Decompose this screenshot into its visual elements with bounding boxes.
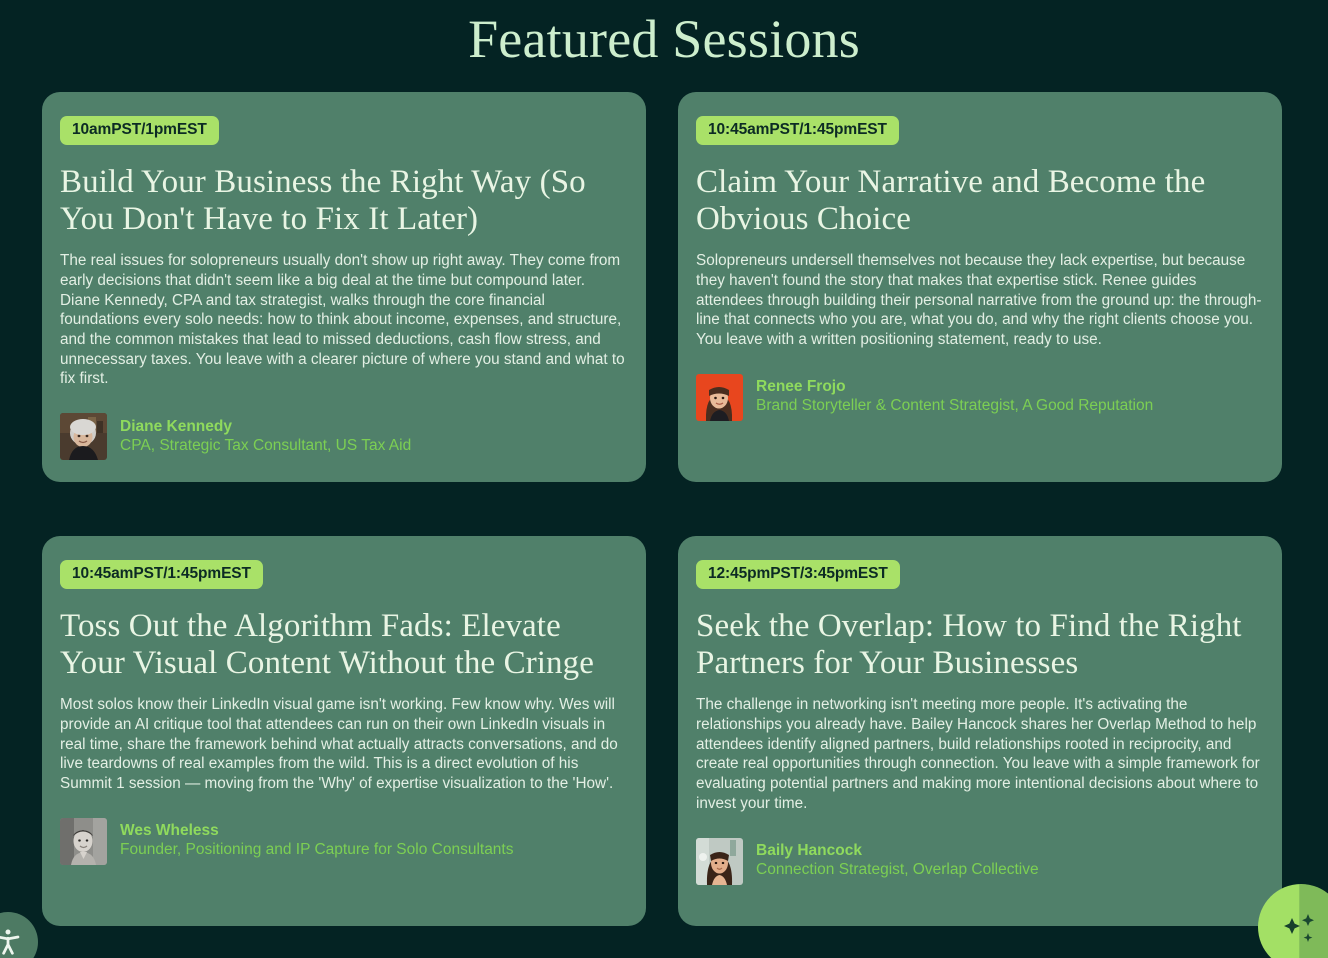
featured-sessions-grid: 10amPST/1pmEST Build Your Business the R… [0, 92, 1328, 926]
speaker-avatar-renee-frojo [696, 374, 743, 421]
session-description: Solopreneurs undersell themselves not be… [696, 251, 1264, 350]
session-time-badge: 10:45amPST/1:45pmEST [696, 116, 899, 145]
session-time-badge: 10:45amPST/1:45pmEST [60, 560, 263, 589]
session-description: The real issues for solopreneurs usually… [60, 251, 628, 389]
speaker-name: Baily Hancock [756, 842, 1039, 861]
session-time-badge: 12:45pmPST/3:45pmEST [696, 560, 900, 589]
session-description: The challenge in networking isn't meetin… [696, 695, 1264, 813]
session-title: Claim Your Narrative and Become the Obvi… [696, 164, 1264, 239]
speaker-block: Renee Frojo Brand Storyteller & Content … [696, 374, 1264, 421]
session-card[interactable]: 10amPST/1pmEST Build Your Business the R… [42, 92, 646, 482]
page-title: Featured Sessions [0, 0, 1328, 70]
session-time-badge: 10amPST/1pmEST [60, 116, 219, 145]
speaker-block: Diane Kennedy CPA, Strategic Tax Consult… [60, 413, 628, 460]
speaker-role: Connection Strategist, Overlap Collectiv… [756, 861, 1039, 880]
speaker-name: Diane Kennedy [120, 418, 411, 437]
speaker-avatar-wes-wheless [60, 818, 107, 865]
session-title: Seek the Overlap: How to Find the Right … [696, 608, 1264, 683]
speaker-avatar-diane-kennedy [60, 413, 107, 460]
speaker-role: Brand Storyteller & Content Strategist, … [756, 397, 1153, 416]
speaker-role: CPA, Strategic Tax Consultant, US Tax Ai… [120, 437, 411, 456]
session-card[interactable]: 10:45amPST/1:45pmEST Claim Your Narrativ… [678, 92, 1282, 482]
accessibility-icon [0, 927, 23, 957]
session-description: Most solos know their LinkedIn visual ga… [60, 695, 628, 794]
speaker-block: Baily Hancock Connection Strategist, Ove… [696, 838, 1264, 885]
speaker-text: Baily Hancock Connection Strategist, Ove… [756, 842, 1039, 880]
speaker-text: Diane Kennedy CPA, Strategic Tax Consult… [120, 418, 411, 456]
speaker-avatar-baily-hancock [696, 838, 743, 885]
session-title: Toss Out the Algorithm Fads: Elevate You… [60, 608, 628, 683]
speaker-text: Renee Frojo Brand Storyteller & Content … [756, 378, 1153, 416]
session-title: Build Your Business the Right Way (So Yo… [60, 164, 628, 239]
speaker-name: Renee Frojo [756, 378, 1153, 397]
speaker-block: Wes Wheless Founder, Positioning and IP … [60, 818, 628, 865]
speaker-name: Wes Wheless [120, 822, 514, 841]
session-card[interactable]: 10:45amPST/1:45pmEST Toss Out the Algori… [42, 536, 646, 926]
speaker-role: Founder, Positioning and IP Capture for … [120, 841, 514, 860]
speaker-text: Wes Wheless Founder, Positioning and IP … [120, 822, 514, 860]
session-card[interactable]: 12:45pmPST/3:45pmEST Seek the Overlap: H… [678, 536, 1282, 926]
